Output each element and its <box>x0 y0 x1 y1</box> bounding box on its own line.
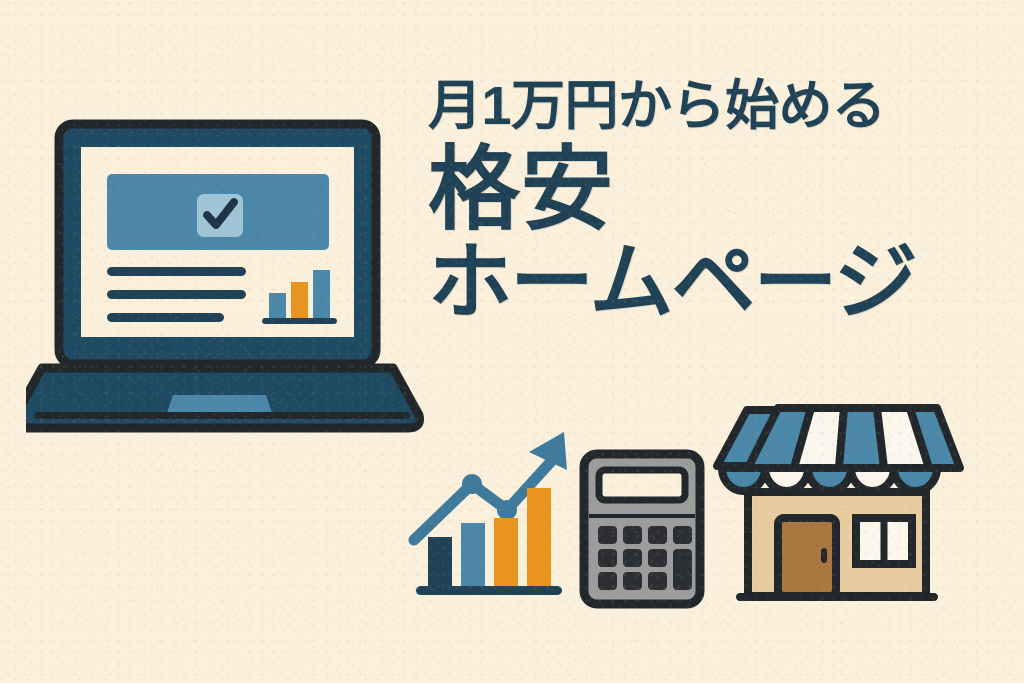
calc-key-2 <box>623 526 642 544</box>
headline-line-3: ホームページ <box>428 237 1008 328</box>
growth-chart-illustration <box>404 412 584 612</box>
mini-bar-3 <box>313 270 330 319</box>
mini-chart-baseline <box>262 318 337 324</box>
trend-marker-1 <box>462 474 482 494</box>
shop-ground <box>736 593 938 601</box>
calc-key-6 <box>623 549 642 567</box>
text-line-3 <box>107 313 224 322</box>
calculator-display <box>599 470 685 500</box>
shop-door[interactable] <box>778 518 836 596</box>
calc-key-4 <box>673 526 692 544</box>
storefront-illustration <box>708 396 966 617</box>
calc-key-10 <box>623 572 642 590</box>
headline-line-2: 格安 <box>428 141 1008 240</box>
calc-key-3 <box>648 526 667 544</box>
mini-bar-2 <box>291 282 308 319</box>
growth-bar-1 <box>428 537 452 588</box>
growth-bar-4 <box>527 488 551 588</box>
growth-baseline <box>416 586 562 595</box>
growth-bars <box>416 488 562 595</box>
headline: 月1万円から始める 格安 ホームページ <box>428 78 1008 327</box>
laptop-base <box>26 368 420 428</box>
calc-key-1 <box>598 526 617 544</box>
poster-canvas: 月1万円から始める 格安 ホームページ <box>0 0 1024 683</box>
awning-canopy <box>748 408 960 468</box>
headline-line-1: 月1万円から始める <box>428 78 1008 135</box>
calc-key-7 <box>648 549 667 567</box>
calc-key-11 <box>648 572 667 590</box>
growth-bar-2 <box>461 523 485 588</box>
growth-bar-3 <box>494 518 518 588</box>
laptop-illustration <box>26 110 426 455</box>
text-line-1 <box>107 267 246 276</box>
text-line-2 <box>107 290 246 299</box>
calc-key-5 <box>598 549 617 567</box>
door-handle <box>821 548 827 563</box>
calc-key-8-tall <box>673 549 692 590</box>
trend-marker-2 <box>497 500 517 520</box>
calc-key-9 <box>598 572 617 590</box>
shop-window <box>856 518 912 564</box>
mini-bar-1 <box>269 293 286 319</box>
calculator-illustration <box>578 448 706 615</box>
